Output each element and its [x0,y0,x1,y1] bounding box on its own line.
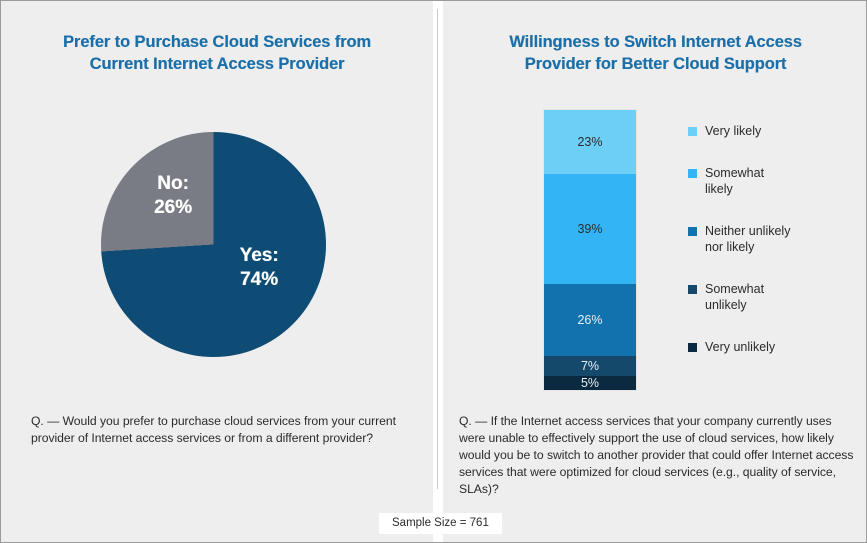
legend-item-label: Very likely [705,123,863,139]
legend-item-label: Somewhat unlikely [705,281,863,313]
legend-swatch-icon [688,127,697,136]
legend-swatch-icon [688,227,697,236]
legend-item-label: Very unlikely [705,339,863,355]
pie-slice-label-no: No: 26% [137,172,209,220]
panel-divider [433,1,443,543]
panel-stacked-bar-chart: Willingness to Switch Internet Access Pr… [443,1,867,543]
bar-segment-very-unlikely: 5% [544,376,636,390]
bar-segment-value: 39% [577,222,602,236]
bar-segment-value: 7% [581,359,599,373]
question-footnote-left: Q. — Would you prefer to purchase cloud … [31,413,396,447]
legend-item-somewhat-likely[interactable]: Somewhat likely [688,165,863,223]
bar-segment-value: 23% [577,135,602,149]
bar-segment-very-likely: 23% [544,110,636,174]
legend-swatch-icon [688,285,697,294]
bar-segment-value: 26% [577,313,602,327]
legend-item-somewhat-unlikely[interactable]: Somewhat unlikely [688,281,863,339]
page-title-right: Willingness to Switch Internet Access Pr… [443,31,867,75]
bar-segment-value: 5% [581,376,599,390]
pie-slice-label-yes: Yes: 74% [219,244,299,292]
question-footnote-right: Q. — If the Internet access services tha… [459,413,859,498]
stacked-bar-graphic: 23% 39% 26% 7% 5% [543,109,637,391]
bar-segment-neither: 26% [544,284,636,357]
panel-divider-line [437,9,438,489]
legend-item-label: Somewhat likely [705,165,863,197]
legend-swatch-icon [688,343,697,352]
panel-pie-chart: Prefer to Purchase Cloud Services from C… [1,1,433,543]
legend-item-label: Neither unlikely nor likely [705,223,863,255]
legend-swatch-icon [688,169,697,178]
legend-item-neither[interactable]: Neither unlikely nor likely [688,223,863,281]
chart-legend: Very likely Somewhat likely Neither unli… [688,123,863,355]
legend-item-very-unlikely[interactable]: Very unlikely [688,339,863,355]
pie-chart: No: 26% Yes: 74% [101,132,326,357]
bar-segment-somewhat-likely: 39% [544,174,636,283]
page-title-left: Prefer to Purchase Cloud Services from C… [1,31,433,75]
sample-size-badge: Sample Size = 761 [379,513,502,534]
infographic-canvas: Prefer to Purchase Cloud Services from C… [0,0,867,543]
legend-item-very-likely[interactable]: Very likely [688,123,863,165]
bar-segment-somewhat-unlikely: 7% [544,356,636,376]
